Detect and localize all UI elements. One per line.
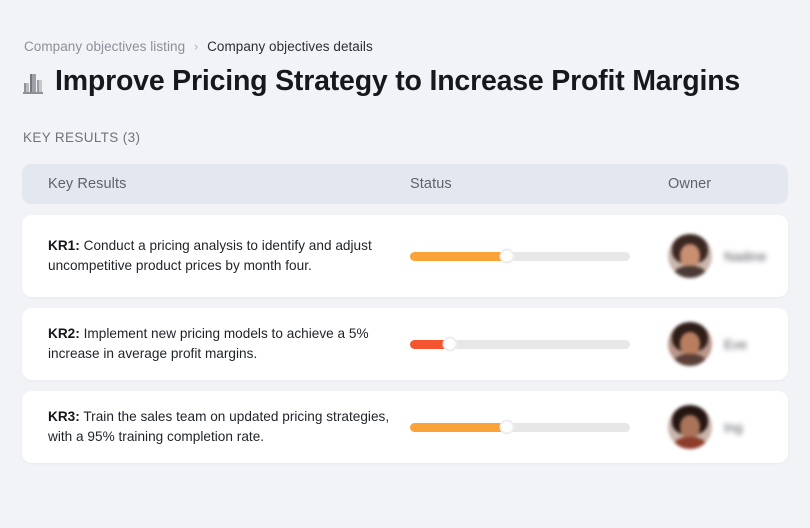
owner-name: Ing (724, 420, 743, 435)
key-result-tag: KR2: (48, 326, 80, 341)
key-result-description: KR3: Train the sales team on updated pri… (48, 407, 410, 447)
key-result-tag: KR3: (48, 409, 80, 424)
key-result-body: Train the sales team on updated pricing … (48, 409, 389, 444)
status-progress-fill (410, 423, 507, 432)
company-objectives-details-page: Company objectives listing › Company obj… (0, 0, 810, 528)
key-results-table: Key Results Status Owner KR1: Conduct a … (22, 164, 788, 474)
table-body: KR1: Conduct a pricing analysis to ident… (22, 215, 788, 463)
owner-name: Eve (724, 337, 747, 352)
status-progress-fill (410, 252, 507, 261)
avatar (668, 405, 712, 449)
status-progress-slider[interactable] (410, 252, 630, 261)
owner-cell: Eve (668, 322, 788, 366)
table-row[interactable]: KR3: Train the sales team on updated pri… (22, 391, 788, 463)
table-header-row: Key Results Status Owner (22, 164, 788, 204)
avatar (668, 322, 712, 366)
avatar (668, 234, 712, 278)
page-title-row: Improve Pricing Strategy to Increase Pro… (22, 64, 740, 98)
status-progress-handle[interactable] (499, 420, 514, 435)
column-header-owner: Owner (668, 176, 711, 192)
key-result-body: Implement new pricing models to achieve … (48, 326, 369, 361)
key-result-body: Conduct a pricing analysis to identify a… (48, 238, 372, 273)
owner-cell: Nadine (668, 234, 788, 278)
status-progress-handle[interactable] (499, 249, 514, 264)
owner-name: Nadine (724, 249, 766, 264)
status-progress-slider[interactable] (410, 340, 630, 349)
column-header-key-results: Key Results (48, 176, 126, 192)
status-progress-handle[interactable] (442, 337, 457, 352)
table-row[interactable]: KR1: Conduct a pricing analysis to ident… (22, 215, 788, 297)
bar-chart-icon (22, 71, 44, 95)
status-progress-slider[interactable] (410, 423, 630, 432)
chevron-right-icon: › (194, 38, 198, 56)
key-result-description: KR2: Implement new pricing models to ach… (48, 324, 410, 364)
key-result-tag: KR1: (48, 238, 80, 253)
column-header-status: Status (410, 176, 452, 192)
key-result-description: KR1: Conduct a pricing analysis to ident… (48, 236, 410, 276)
page-title: Improve Pricing Strategy to Increase Pro… (55, 64, 740, 98)
breadcrumb: Company objectives listing › Company obj… (24, 38, 373, 56)
breadcrumb-parent-link[interactable]: Company objectives listing (24, 38, 185, 56)
key-results-section-label: KEY RESULTS (3) (23, 129, 140, 147)
table-row[interactable]: KR2: Implement new pricing models to ach… (22, 308, 788, 380)
breadcrumb-current: Company objectives details (207, 38, 373, 56)
owner-cell: Ing (668, 405, 788, 449)
